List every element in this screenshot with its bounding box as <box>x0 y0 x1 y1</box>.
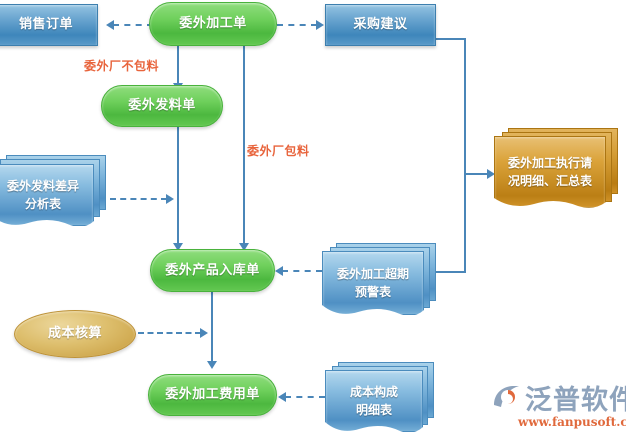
node-outsource-fee[interactable]: 委外加工费用单 <box>148 374 277 416</box>
edge-receipt-to-fee-arrowhead <box>207 361 217 369</box>
node-product-receipt-label: 委外产品入库单 <box>151 262 274 280</box>
edge-cost-to-receipt-arrowhead <box>200 328 208 338</box>
edge-purchase-elbow-vertical <box>464 38 466 272</box>
edge-variance-to-receipt <box>110 198 167 200</box>
node-cost-structure-report[interactable]: 成本构成 明细表 <box>325 362 445 435</box>
flowchart-canvas: 委外厂不包料 委外厂包料 销售订单 委外加工单 采购建议 委外发料单 委外发料差… <box>0 0 626 435</box>
fanpu-url-text: www.fanpusoft.com <box>518 415 626 429</box>
node-overdue-warning-report[interactable]: 委外加工超期 预警表 <box>322 243 444 323</box>
edge-order-to-issue <box>177 46 179 86</box>
node-outsource-issue[interactable]: 委外发料单 <box>101 85 223 127</box>
node-outsource-order-label: 委外加工单 <box>150 15 276 33</box>
label-line-1: 委外加工超期 <box>337 267 409 281</box>
node-outsource-order[interactable]: 委外加工单 <box>149 2 277 46</box>
node-sales-order-label: 销售订单 <box>0 16 97 34</box>
node-cost-accounting-label: 成本核算 <box>15 325 135 343</box>
edge-issue-to-receipt <box>177 126 179 246</box>
edge-overdue-to-receipt <box>282 270 322 272</box>
edge-purchase-to-execution <box>464 173 488 175</box>
node-sales-order[interactable]: 销售订单 <box>0 4 98 46</box>
node-product-receipt[interactable]: 委外产品入库单 <box>150 249 275 292</box>
node-execution-report-label: 委外加工执行请 况明细、汇总表 <box>495 154 605 190</box>
edge-order-to-sales-arrowhead <box>106 20 114 30</box>
node-outsource-fee-label: 委外加工费用单 <box>149 386 276 404</box>
node-issue-variance-report[interactable]: 委外发料差异 分析表 <box>0 155 110 230</box>
edge-order-to-sales <box>113 24 153 26</box>
label-line-1: 委外加工执行请 <box>508 156 592 170</box>
node-cost-accounting[interactable]: 成本核算 <box>14 310 136 358</box>
node-purchase-suggestion[interactable]: 采购建议 <box>325 4 436 46</box>
node-cost-structure-report-label: 成本构成 明细表 <box>326 383 422 419</box>
logo-row: 泛普软件 <box>492 378 626 417</box>
fanpu-logo-mark-icon <box>492 383 522 413</box>
edge-receipt-to-fee <box>211 292 213 364</box>
condition-label-with-material: 委外厂包料 <box>247 142 310 159</box>
edge-structure-to-fee <box>285 396 325 398</box>
label-line-1: 成本构成 <box>350 385 398 399</box>
doc-wavy-bottom <box>322 300 424 318</box>
edge-purchase-elbow-top <box>436 38 466 40</box>
condition-label-no-material: 委外厂不包料 <box>84 57 159 74</box>
edge-structure-to-fee-arrowhead <box>278 392 286 402</box>
node-issue-variance-report-label: 委外发料差异 分析表 <box>0 177 93 213</box>
node-execution-report[interactable]: 委外加工执行请 况明细、汇总表 <box>494 128 622 220</box>
edge-overdue-to-receipt-arrowhead <box>275 266 283 276</box>
fanpu-logo: 泛普软件 www.fanpusoft.com <box>492 378 626 429</box>
doc-wavy-bottom <box>0 211 94 229</box>
node-outsource-issue-label: 委外发料单 <box>102 97 222 115</box>
doc-wavy-bottom <box>325 417 423 435</box>
edge-cost-to-receipt <box>138 332 201 334</box>
doc-wavy-bottom <box>494 192 606 210</box>
node-purchase-suggestion-label: 采购建议 <box>326 16 435 34</box>
node-overdue-warning-report-label: 委外加工超期 预警表 <box>323 265 423 301</box>
edge-order-to-receipt <box>243 46 245 246</box>
label-line-2: 明细表 <box>356 403 392 417</box>
label-line-1: 委外发料差异 <box>7 179 79 193</box>
label-line-2: 分析表 <box>25 197 61 211</box>
fanpu-brand-text: 泛普软件 <box>525 378 626 417</box>
label-line-2: 况明细、汇总表 <box>508 174 592 188</box>
edge-variance-to-receipt-arrowhead <box>166 194 174 204</box>
edge-order-to-purchase <box>277 24 317 26</box>
label-line-2: 预警表 <box>355 285 391 299</box>
edge-order-to-purchase-arrowhead <box>316 20 324 30</box>
